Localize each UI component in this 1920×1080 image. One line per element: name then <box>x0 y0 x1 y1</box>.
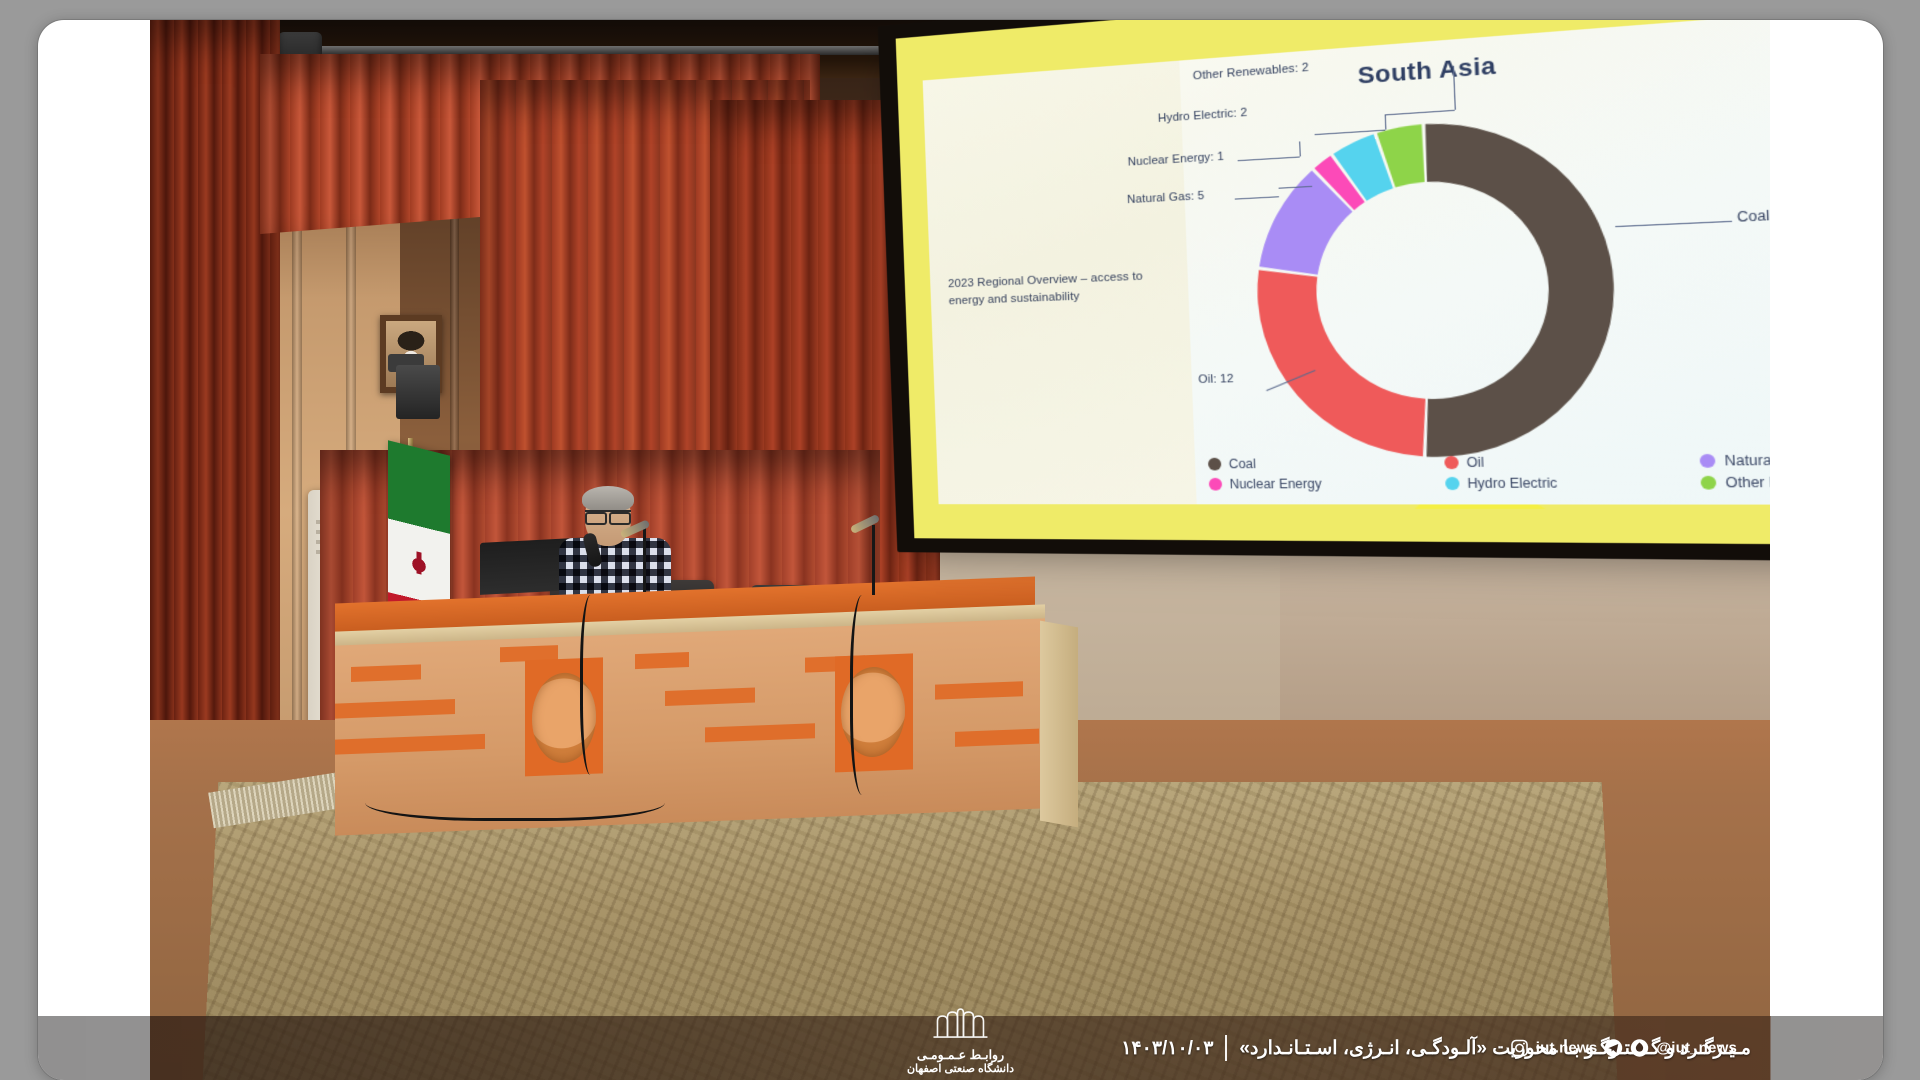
donut-chart <box>1236 97 1638 473</box>
legend-label: Oil <box>1466 455 1484 471</box>
legend-color-swatch <box>1701 476 1717 490</box>
caption-divider <box>1225 1035 1227 1061</box>
legend-label: Nuclear Energy <box>1229 476 1322 491</box>
donut-slice <box>1257 264 1428 458</box>
legend-color-swatch <box>1445 477 1460 490</box>
donut-chart-svg <box>1236 97 1638 473</box>
legend-item: Coal <box>1208 455 1414 471</box>
donut-slice <box>1413 113 1621 458</box>
legend-item: Oil <box>1444 453 1668 470</box>
callout-other-renewables: Other Renewables: 2 <box>1193 61 1309 82</box>
cable <box>850 595 880 795</box>
eyeglasses <box>585 510 631 519</box>
social-handles: iut.news @iut_news <box>1510 1039 1737 1058</box>
legend-item: Nuclear Energy <box>1209 476 1415 492</box>
projected-slide: 2023 Regional Overview – access to energ… <box>896 20 1770 545</box>
caption-banner: مـیـزگـرد و گـفـتـوگـو بـا محوریت «آلـود… <box>38 1016 1883 1080</box>
pr-line-1: روابـط عـمـومـی <box>907 1048 1014 1064</box>
wall-speaker <box>396 365 440 419</box>
public-relations-logo: روابـط عـمـومـی دانشگاه صنعتی اصفهان <box>907 1008 1014 1077</box>
page-root: 2023 Regional Overview – access to energ… <box>0 0 1920 1080</box>
projection-screen: 2023 Regional Overview – access to energ… <box>896 20 1770 545</box>
speaker-person <box>555 490 675 600</box>
slide-caption: 2023 Regional Overview – access to energ… <box>948 268 1155 310</box>
instagram-handle[interactable]: iut.news <box>1536 1040 1598 1057</box>
legend-label: Other Renewables <box>1725 474 1770 491</box>
bale-handle[interactable]: @iut_news <box>1656 1040 1737 1057</box>
legend-label: Hydro Electric <box>1467 475 1558 491</box>
university-emblem-icon <box>907 1008 1014 1047</box>
callout-oil: Oil: 12 <box>1198 373 1234 386</box>
callout-coal: Coal: 23 <box>1737 206 1770 225</box>
cable <box>580 595 606 775</box>
legend-color-swatch <box>1208 458 1222 471</box>
news-photo-card: 2023 Regional Overview – access to energ… <box>38 20 1883 1080</box>
legend-item: Natural Gas <box>1700 451 1770 469</box>
slide-content: 2023 Regional Overview – access to energ… <box>923 20 1770 505</box>
person-hair <box>582 486 634 512</box>
slide-title: South Asia <box>1357 52 1496 90</box>
legend-item: Hydro Electric <box>1445 475 1669 491</box>
legend-label: Coal <box>1229 456 1257 471</box>
podium-microphone <box>872 525 875 595</box>
podium-microphone <box>643 528 646 592</box>
instagram-icon[interactable] <box>1510 1039 1529 1058</box>
telegram-icon[interactable] <box>1604 1039 1623 1058</box>
legend-color-swatch <box>1444 456 1459 469</box>
leader-line <box>1615 221 1732 227</box>
legend-item: Other Renewables <box>1701 474 1770 491</box>
flag-emblem <box>406 549 432 577</box>
bale-icon[interactable] <box>1630 1039 1649 1058</box>
legend-color-swatch <box>1700 454 1716 468</box>
cable <box>365 775 665 821</box>
pr-line-2: دانشگاه صنعتی اصفهان <box>907 1063 1014 1077</box>
chart-legend: CoalNuclear EnergyOilHydro ElectricNatur… <box>1208 451 1770 492</box>
legend-color-swatch <box>1209 478 1223 491</box>
event-photograph: 2023 Regional Overview – access to energ… <box>150 20 1770 1080</box>
legend-label: Natural Gas <box>1724 452 1770 469</box>
event-date: ۱۴۰۳/۱۰/۰۳ <box>1121 1037 1213 1060</box>
